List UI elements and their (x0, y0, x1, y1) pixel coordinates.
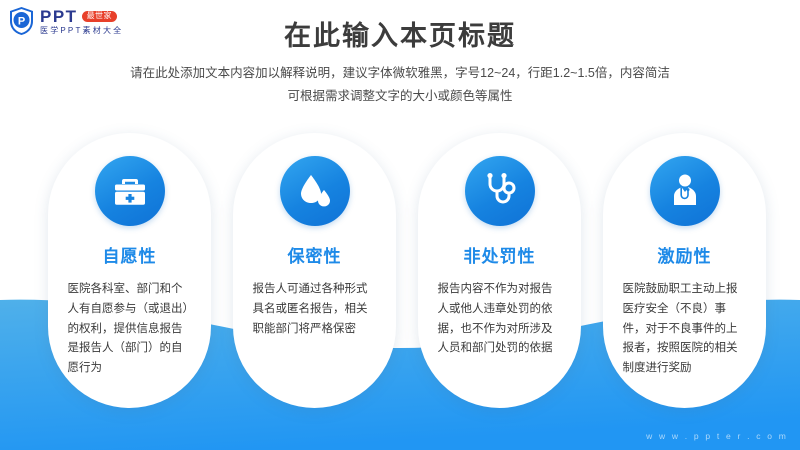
logo-brand: PPT (40, 8, 78, 25)
card-voluntary[interactable]: 自愿性 医院各科室、部门和个人有自愿参与（或退出）的权利，提供信息报告是报告人（… (48, 133, 211, 408)
card-confidential[interactable]: 保密性 报告人可通过各种形式具名或匿名报告，相关职能部门将严格保密 (233, 133, 396, 408)
stethoscope-icon (465, 156, 535, 226)
page-subtitle: 请在此处添加文本内容加以解释说明，建议字体微软雅黑，字号12~24，行距1.2~… (0, 62, 800, 108)
slide-canvas: P PPT 最世家 医学PPT素材大全 在此输入本页标题 请在此处添加文本内容加… (0, 0, 800, 450)
water-drop-icon (280, 156, 350, 226)
logo-tagline: 医学PPT素材大全 (40, 27, 123, 35)
card-body-text: 报告人可通过各种形式具名或匿名报告，相关职能部门将严格保密 (253, 280, 377, 339)
card-body-text: 报告内容不作为对报告人或他人违章处罚的依据，也不作为对所涉及人员和部门处罚的依据 (438, 280, 562, 359)
card-heading: 自愿性 (103, 242, 157, 267)
doctor-icon (650, 156, 720, 226)
card-heading: 保密性 (288, 242, 342, 267)
subtitle-line-1: 请在此处添加文本内容加以解释说明，建议字体微软雅黑，字号12~24，行距1.2~… (0, 62, 800, 85)
brand-logo[interactable]: P PPT 最世家 医学PPT素材大全 (8, 6, 123, 36)
logo-text-block: PPT 最世家 医学PPT素材大全 (40, 8, 123, 35)
card-body-text: 医院鼓励职工主动上报医疗安全（不良）事件，对于不良事件的上报者，按照医院的相关制… (623, 280, 747, 379)
subtitle-line-2: 可根据需求调整文字的大小或颜色等属性 (0, 85, 800, 108)
card-heading: 非处罚性 (464, 242, 536, 267)
shield-icon: P (8, 6, 35, 36)
shield-letter: P (18, 16, 25, 28)
card-incentive[interactable]: 激励性 医院鼓励职工主动上报医疗安全（不良）事件，对于不良事件的上报者，按照医院… (603, 133, 766, 408)
cards-row: 自愿性 医院各科室、部门和个人有自愿参与（或退出）的权利，提供信息报告是报告人（… (0, 133, 800, 413)
logo-badge: 最世家 (82, 11, 118, 22)
watermark: w w w . p p t e r . c o m (646, 431, 788, 441)
card-non-punitive[interactable]: 非处罚性 报告内容不作为对报告人或他人违章处罚的依据，也不作为对所涉及人员和部门… (418, 133, 581, 408)
card-heading: 激励性 (658, 242, 712, 267)
medical-kit-icon (95, 156, 165, 226)
card-body-text: 医院各科室、部门和个人有自愿参与（或退出）的权利，提供信息报告是报告人（部门）的… (68, 280, 192, 379)
